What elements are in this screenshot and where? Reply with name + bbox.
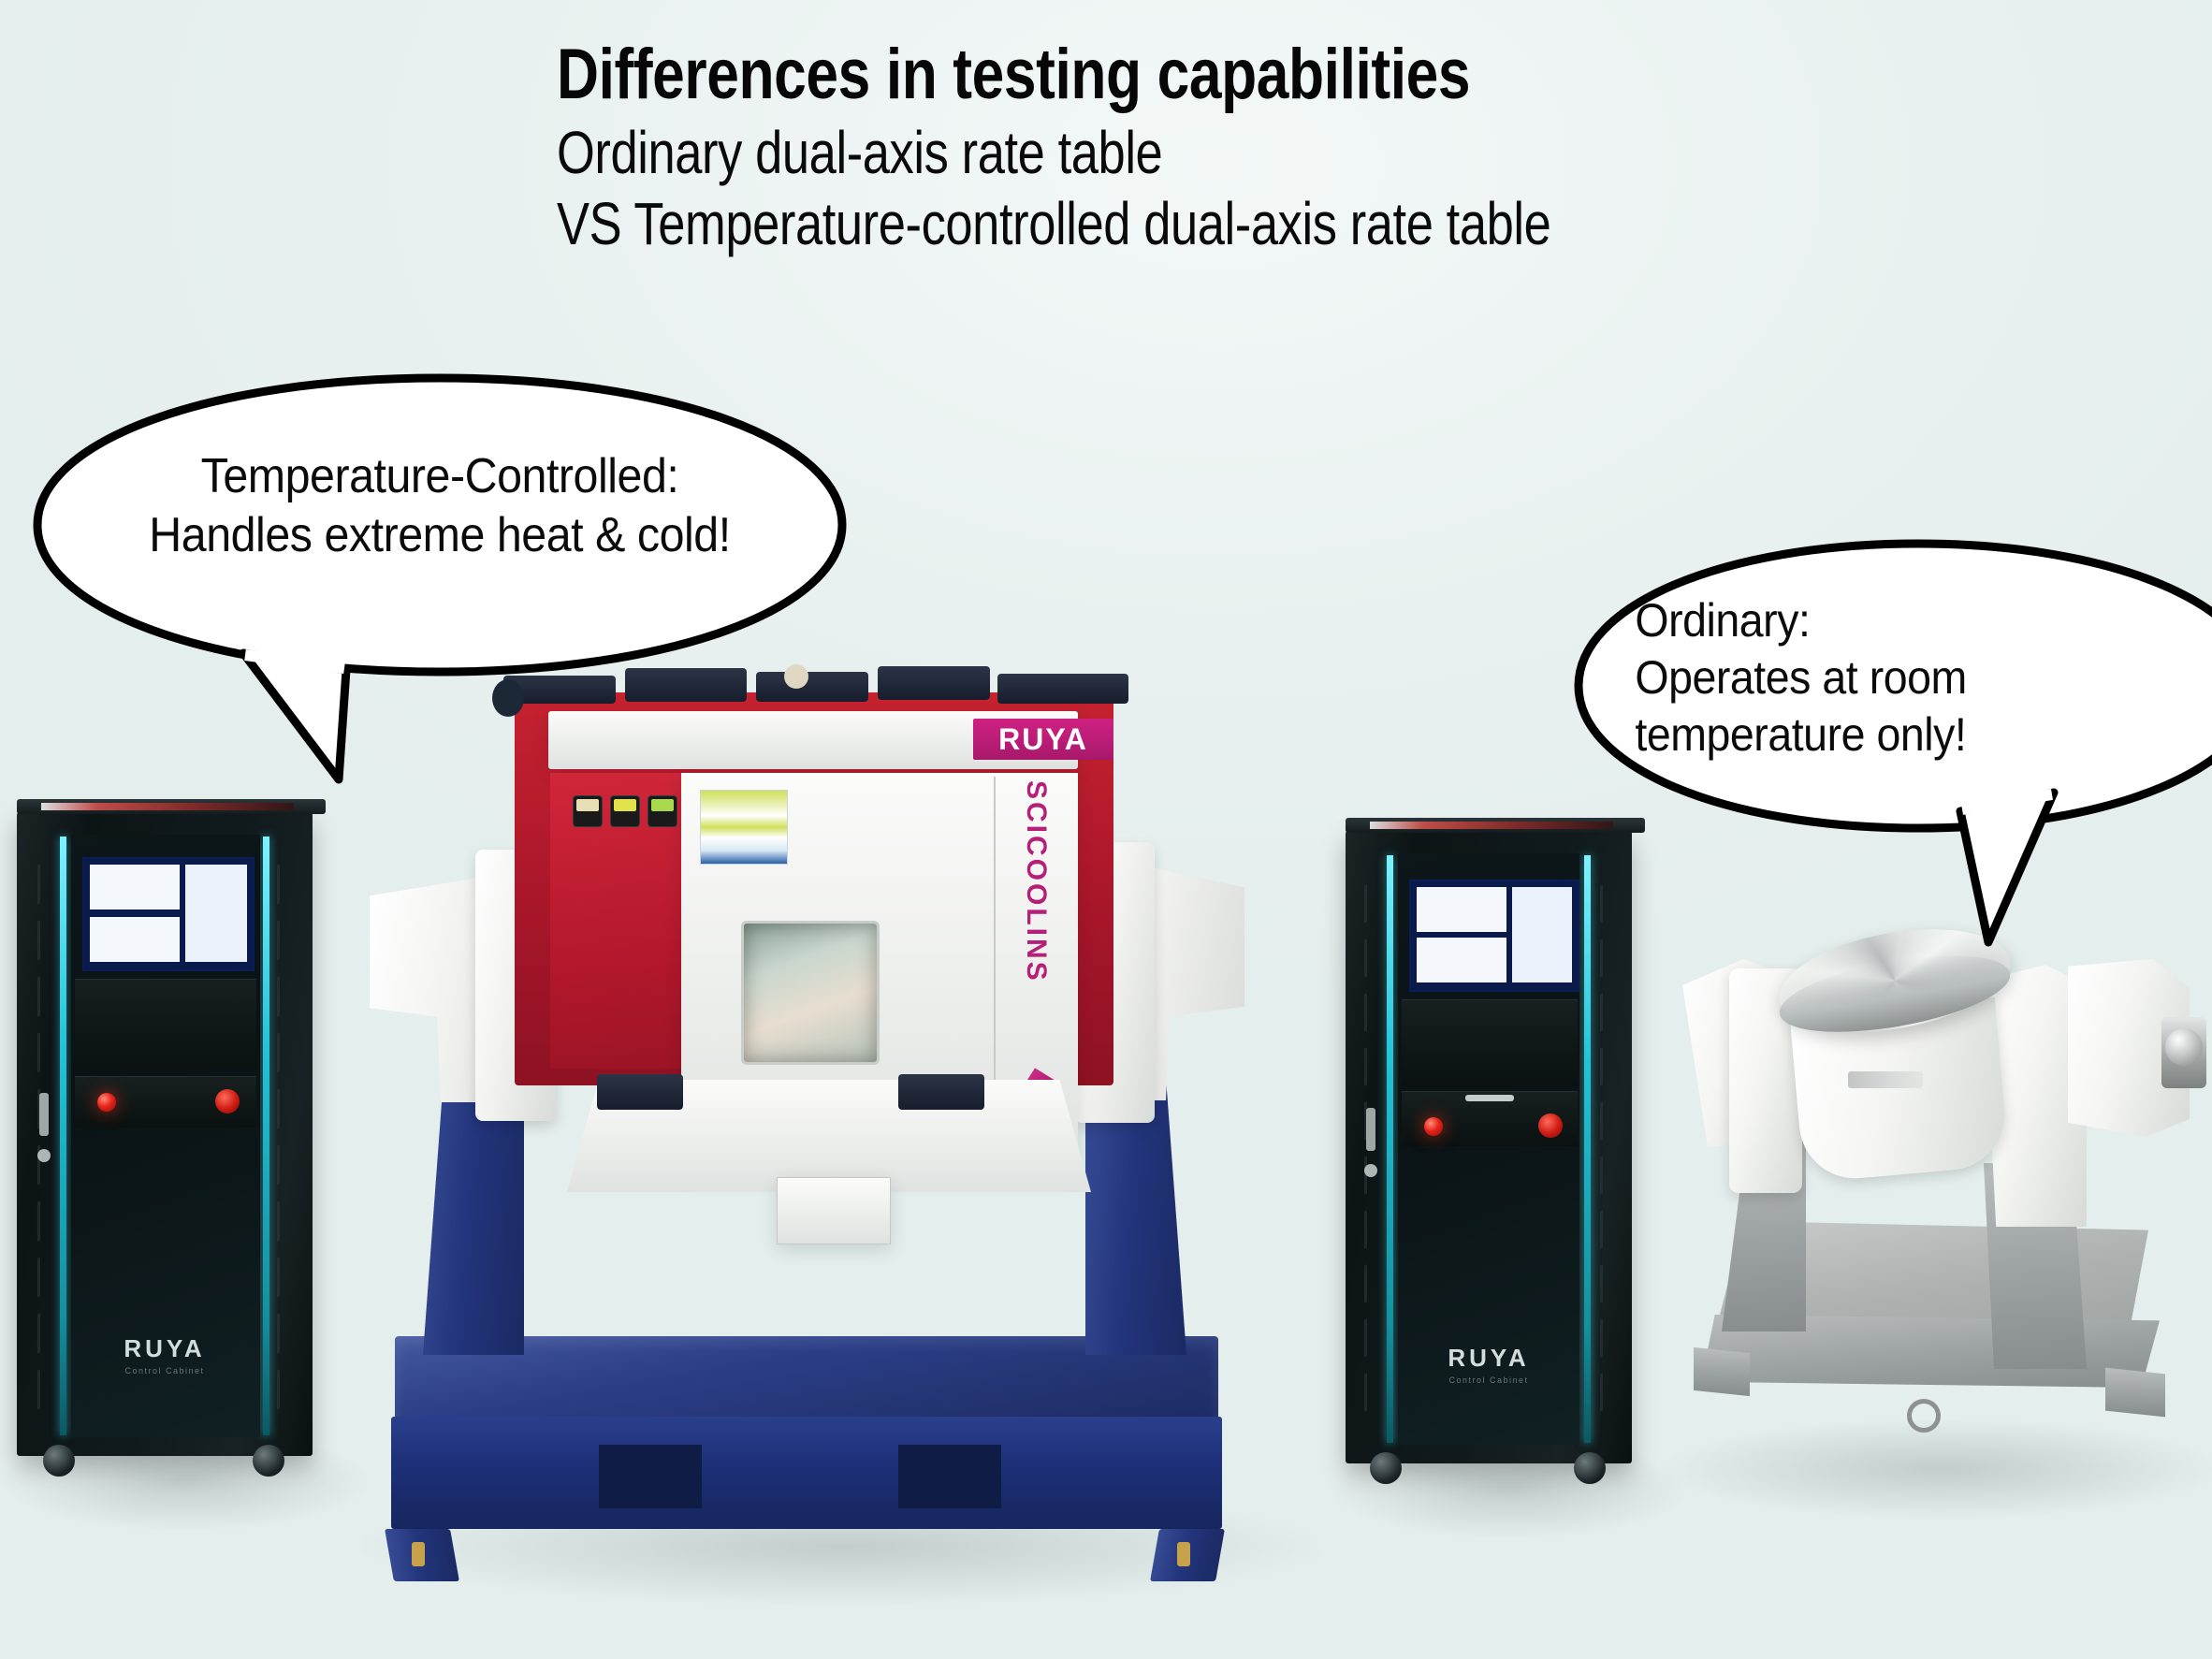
chamber-side-divider [994,777,996,1085]
right-rack-brand: RUYA [1346,1344,1632,1373]
left-rack-brand: RUYA [17,1334,313,1363]
right-monitor-window-c [1512,887,1572,982]
cabinet-stop-button[interactable] [215,1089,240,1113]
cabinet-door-lock[interactable] [37,1149,51,1162]
base-frame [391,1417,1222,1529]
chamber-mount-bracket-left [597,1074,683,1110]
subtitle-line-2: VS Temperature-controlled dual-axis rate… [557,191,1907,258]
cabinet-power-led [97,1093,116,1112]
callout-left-text: Temperature-Controlled: Handles extreme … [74,447,805,566]
chamber-indicator-1[interactable] [573,795,603,827]
right-cabinet-power-led [1424,1117,1443,1136]
temperature-controlled-rate-table: RUYA SCICOOLINS [374,672,1301,1608]
right-control-cabinet: RUYA Control Cabinet [1346,831,1654,1486]
ordinary-rate-table [1675,912,2208,1492]
cabinet-instrument-panel [75,979,256,1070]
ruya-badge: RUYA [973,719,1113,760]
callout-right-line-2: Operates at room [1635,649,2191,706]
right-cabinet-body: RUYA Control Cabinet [1346,831,1632,1463]
anchor-bolt-left [412,1542,425,1566]
monitor-window-a [90,865,180,910]
subtitle-line-1: Ordinary dual-axis rate table [557,120,1907,187]
certification-sticker [700,790,788,865]
ordinary-table-brand-mark [1848,1071,1923,1088]
ordinary-base-foot-left [1694,1347,1750,1396]
right-cabinet-door-handle[interactable] [1366,1108,1375,1151]
right-caster-wheel-left [1370,1452,1402,1484]
cabinet-vent-left [32,855,60,1417]
ordinary-lifting-eye [1907,1399,1941,1433]
cabinet-body: RUYA Control Cabinet [17,812,313,1456]
chamber-indicator-2[interactable] [610,795,640,827]
chamber-mount-bracket-right [898,1074,984,1110]
caster-wheel-left [43,1445,75,1477]
ruya-badge-label: RUYA [998,722,1088,757]
callout-right-line-1: Ordinary: [1635,592,2191,649]
monitor-window-c [185,865,247,962]
cabinet-vent-right [269,855,298,1417]
callout-left-line-1: Temperature-Controlled: [74,447,805,506]
callout-ordinary: Ordinary: Operates at room temperature o… [1558,538,2212,856]
title-block: Differences in testing capabilities Ordi… [557,39,2204,257]
scicoolins-brand-vertical: SCICOOLINS [1020,780,1052,1052]
left-rack-brand-sub: Control Cabinet [17,1366,313,1375]
cabinet-top-label-strip [41,803,294,810]
right-cabinet-stop-button[interactable] [1538,1113,1563,1138]
callout-temperature-controlled: Temperature-Controlled: Handles extreme … [9,372,870,681]
callout-right-line-3: temperature only! [1635,706,2191,764]
base-cutout-left [599,1445,702,1508]
cabinet-door-handle[interactable] [39,1093,49,1136]
right-cabinet-instrument-panel [1402,999,1578,1086]
poster-canvas: Differences in testing capabilities Ordi… [0,0,2212,1659]
anchor-bolt-right [1177,1542,1190,1566]
right-cabinet-monitor [1409,880,1579,992]
right-rack-brand-sub: Control Cabinet [1346,1375,1632,1385]
base-cutout-right [898,1445,1001,1508]
left-control-cabinet: RUYA Control Cabinet [17,812,335,1478]
monitor-window-b [90,917,180,962]
callout-left-line-2: Handles extreme heat & cold! [74,506,805,565]
chamber-indicator-3[interactable] [648,795,677,827]
chamber-access-hatch[interactable] [777,1177,891,1244]
ordinary-axis-hub [2165,1028,2203,1066]
cabinet-monitor [82,857,255,971]
ordinary-table-shadow [1656,1418,2212,1521]
right-monitor-window-b [1417,938,1506,982]
chamber-viewing-window[interactable] [741,921,880,1065]
right-caster-wheel-right [1574,1452,1606,1484]
right-monitor-window-a [1417,887,1506,932]
right-cabinet-door-lock[interactable] [1364,1164,1377,1177]
caster-wheel-right [253,1445,284,1477]
ordinary-base-foot-right [2105,1368,2165,1418]
page-title: Differences in testing capabilities [557,39,1907,110]
right-cabinet-slot-handle[interactable] [1465,1095,1514,1101]
callout-right-text: Ordinary: Operates at room temperature o… [1635,592,2191,764]
